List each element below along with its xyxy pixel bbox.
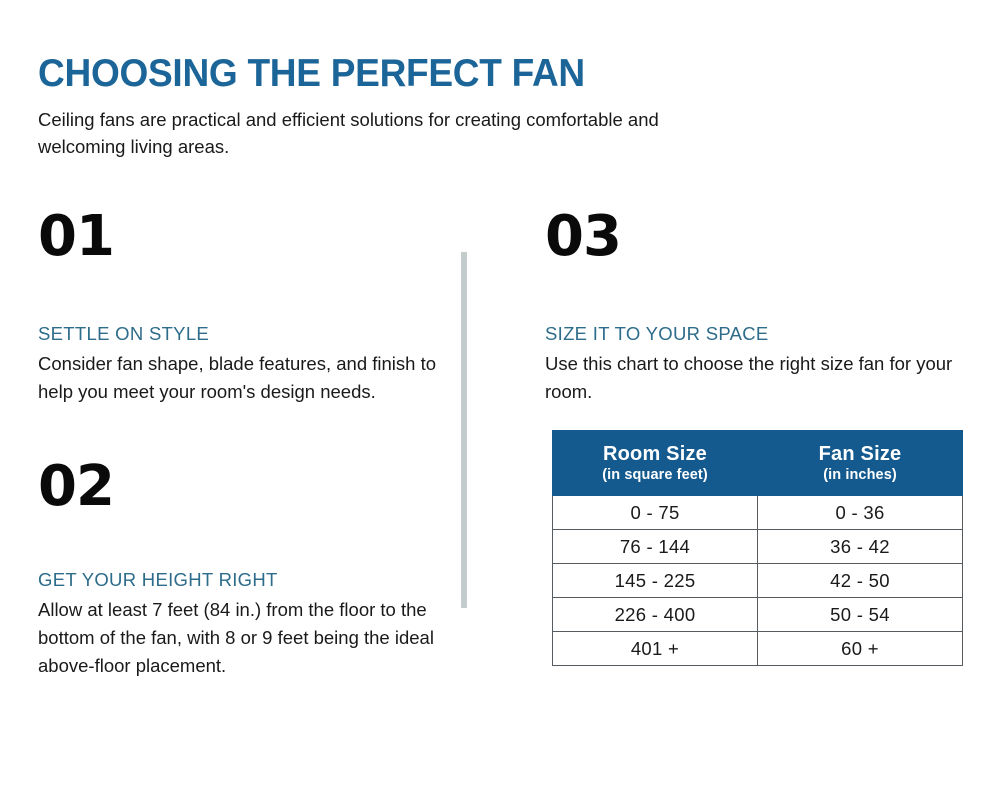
cell-room-size: 76 - 144	[553, 530, 758, 564]
step-block-01: 01 SETTLE ON STYLE Consider fan shape, b…	[38, 208, 438, 406]
table-body: 0 - 75 0 - 36 76 - 144 36 - 42 145 - 225…	[553, 496, 963, 666]
spacer	[545, 266, 970, 322]
step-number-02: 02	[38, 458, 438, 516]
page-title: CHOOSING THE PERFECT FAN	[38, 52, 703, 96]
step-body-02: Allow at least 7 feet (84 in.) from the …	[38, 596, 438, 680]
cell-room-size: 226 - 400	[553, 598, 758, 632]
table-row: 0 - 75 0 - 36	[553, 496, 963, 530]
table-header: Room Size (in square feet) Fan Size (in …	[553, 431, 963, 496]
column-header-fan-size: Fan Size (in inches)	[758, 431, 963, 496]
table-row: 401 + 60 +	[553, 632, 963, 666]
cell-fan-size: 50 - 54	[758, 598, 963, 632]
step-body-03: Use this chart to choose the right size …	[545, 350, 970, 406]
table-row: 145 - 225 42 - 50	[553, 564, 963, 598]
header: CHOOSING THE PERFECT FAN Ceiling fans ar…	[38, 52, 738, 160]
cell-fan-size: 42 - 50	[758, 564, 963, 598]
step-number-03: 03	[545, 208, 970, 266]
column-header-room-size-sub: (in square feet)	[553, 466, 757, 484]
spacer	[38, 516, 438, 568]
column-header-fan-size-main: Fan Size	[758, 442, 962, 466]
table-row: 76 - 144 36 - 42	[553, 530, 963, 564]
cell-fan-size: 0 - 36	[758, 496, 963, 530]
cell-fan-size: 60 +	[758, 632, 963, 666]
column-header-fan-size-sub: (in inches)	[758, 466, 962, 484]
size-chart: Room Size (in square feet) Fan Size (in …	[552, 430, 963, 666]
step-body-01: Consider fan shape, blade features, and …	[38, 350, 438, 406]
column-divider	[461, 252, 467, 608]
right-column: 03 SIZE IT TO YOUR SPACE Use this chart …	[545, 208, 970, 406]
step-heading-02: GET YOUR HEIGHT RIGHT	[38, 568, 438, 592]
step-heading-03: SIZE IT TO YOUR SPACE	[545, 322, 970, 346]
infographic-page: CHOOSING THE PERFECT FAN Ceiling fans ar…	[0, 0, 1000, 800]
left-column: 01 SETTLE ON STYLE Consider fan shape, b…	[38, 208, 438, 680]
page-intro: Ceiling fans are practical and efficient…	[38, 106, 678, 160]
column-header-room-size-main: Room Size	[553, 442, 757, 466]
step-number-01: 01	[38, 208, 438, 266]
room-to-fan-size-table: Room Size (in square feet) Fan Size (in …	[552, 430, 963, 666]
table-header-row: Room Size (in square feet) Fan Size (in …	[553, 431, 963, 496]
cell-room-size: 401 +	[553, 632, 758, 666]
table-row: 226 - 400 50 - 54	[553, 598, 963, 632]
cell-room-size: 0 - 75	[553, 496, 758, 530]
step-block-02: 02 GET YOUR HEIGHT RIGHT Allow at least …	[38, 458, 438, 680]
cell-room-size: 145 - 225	[553, 564, 758, 598]
column-header-room-size: Room Size (in square feet)	[553, 431, 758, 496]
cell-fan-size: 36 - 42	[758, 530, 963, 564]
spacer	[38, 266, 438, 322]
step-heading-01: SETTLE ON STYLE	[38, 322, 438, 346]
step-block-03: 03 SIZE IT TO YOUR SPACE Use this chart …	[545, 208, 970, 406]
